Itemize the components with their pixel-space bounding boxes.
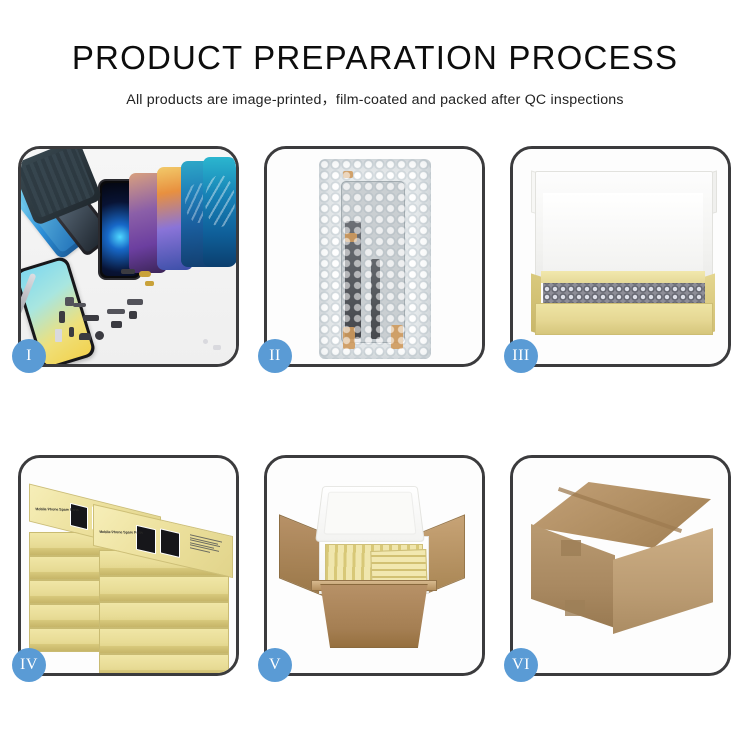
panel-master-carton-loading[interactable]: V (264, 455, 485, 676)
phone-teal (203, 157, 236, 267)
yellow-box-front (535, 303, 713, 335)
panel-stacked-inner-boxes[interactable]: Mobile Phone Spare Parts Mobile Phone Sp… (18, 455, 239, 676)
box-inner-edge (541, 271, 705, 283)
carton-tape-lower (565, 600, 585, 616)
box-label: Mobile Phone Spare Parts (35, 507, 79, 512)
carton-front (313, 584, 435, 648)
panel-image-master-carton-loading (267, 458, 482, 673)
part-chip (59, 311, 65, 323)
panel-badge: V (258, 648, 292, 682)
part-chip (83, 315, 99, 321)
part-chip (121, 269, 135, 274)
panel-products-and-parts[interactable]: I (18, 146, 239, 367)
part-chip (79, 333, 91, 340)
panel-sealed-master-carton[interactable]: VI (510, 455, 731, 676)
adhesive-tab (343, 327, 355, 349)
stacked-box (99, 628, 229, 654)
panel-image-inner-box-packing (513, 149, 728, 364)
panel-image-bubble-wrapped-part (267, 149, 482, 364)
foam-lid-open (315, 486, 425, 542)
part-chip (69, 327, 74, 337)
part-chip (55, 329, 62, 342)
part-chip (213, 345, 221, 350)
page-title: PRODUCT PREPARATION PROCESS (0, 41, 750, 74)
foam-sheet (543, 193, 703, 279)
panel-badge: VI (504, 648, 538, 682)
panel-badge: IV (12, 648, 46, 682)
carton-tape-upper (561, 540, 581, 556)
part-chip (107, 309, 125, 314)
panel-image-products-and-parts (21, 149, 236, 364)
header: PRODUCT PREPARATION PROCESS All products… (0, 0, 750, 109)
product-preparation-infographic: PRODUCT PREPARATION PROCESS All products… (0, 0, 750, 750)
part-chip (145, 281, 154, 286)
part-chip (111, 321, 122, 328)
stacked-box (99, 654, 229, 673)
process-panel-grid: I II (18, 146, 732, 676)
flex-cable (371, 259, 380, 339)
page-subtitle: All products are image-printed，film-coat… (0, 89, 750, 109)
bubble-wrap-pouch (319, 159, 431, 359)
part-chip (95, 331, 104, 340)
part-chip (73, 303, 86, 307)
panel-inner-box-packing[interactable]: III (510, 146, 731, 367)
box-stack: Mobile Phone Spare Parts Mobile Phone Sp… (27, 478, 232, 664)
panel-badge: I (12, 339, 46, 373)
carton-right-face (613, 528, 713, 634)
part-chip (129, 311, 137, 319)
panel-badge: III (504, 339, 538, 373)
panel-bubble-wrapped-part[interactable]: II (264, 146, 485, 367)
part-chip (203, 339, 208, 344)
adhesive-tab (345, 233, 357, 242)
stacked-box (99, 576, 229, 602)
panel-image-sealed-master-carton (513, 458, 728, 673)
adhesive-tab (391, 325, 403, 349)
adhesive-tab (343, 171, 353, 178)
part-chip (127, 299, 143, 305)
stacked-box (99, 602, 229, 628)
part-chip (139, 271, 151, 277)
panel-badge: II (258, 339, 292, 373)
panel-image-stacked-inner-boxes: Mobile Phone Spare Parts Mobile Phone Sp… (21, 458, 236, 673)
box-label: Mobile Phone Spare Parts (99, 530, 143, 535)
